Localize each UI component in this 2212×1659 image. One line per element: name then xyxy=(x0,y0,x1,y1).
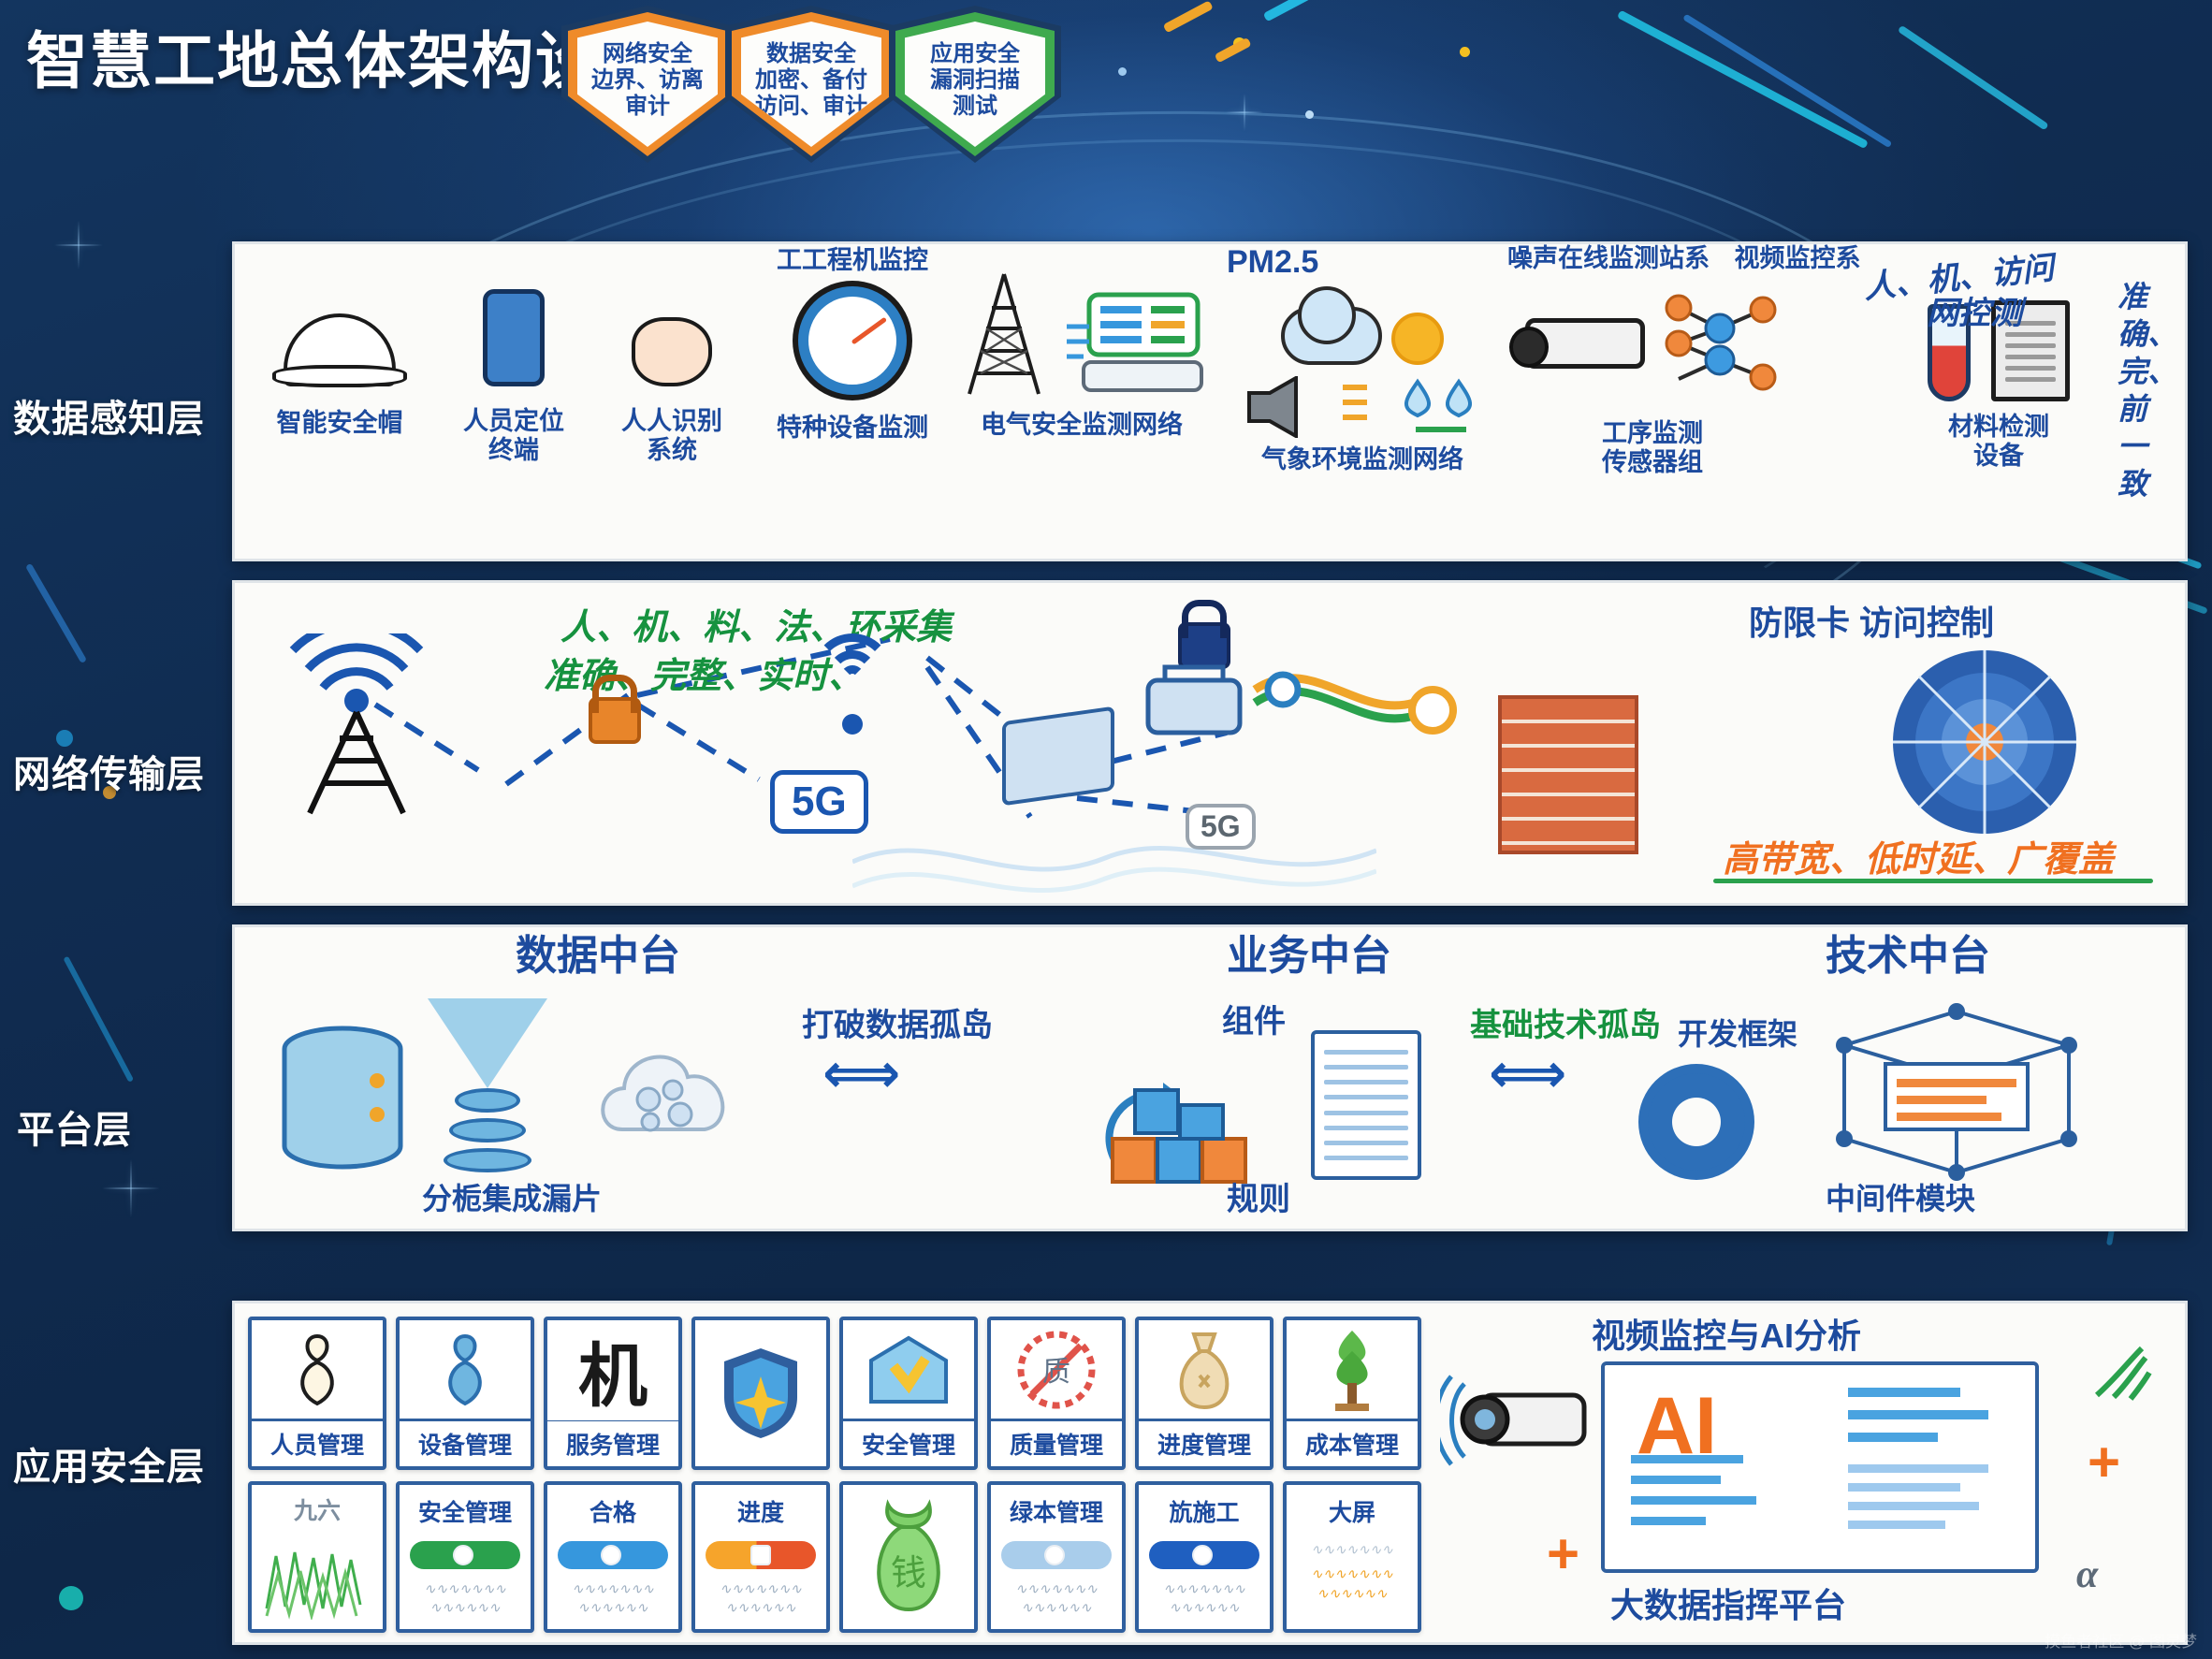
app-card-equipment-management[interactable]: 设备管理 xyxy=(396,1317,534,1470)
cloud-icon xyxy=(1281,307,1382,365)
app-card-construction[interactable]: 斻施工 ∿∿∿∿∿∿∿∿∿∿∿∿∿ xyxy=(1135,1481,1273,1633)
app-card-title: 九六 xyxy=(294,1485,341,1530)
lock-orange-icon xyxy=(589,697,641,744)
noise-bars-icon xyxy=(1341,379,1380,435)
shield-application-security: 应用安全 漏洞扫描 测试 xyxy=(889,6,1061,163)
app-card-title: 绿本管理 xyxy=(1010,1485,1103,1528)
wifi-icon xyxy=(796,628,909,708)
database-icon xyxy=(272,1025,413,1179)
perception-top-label: 工工程机监控 xyxy=(777,246,928,275)
app-card-service-management[interactable]: 机 服务管理 xyxy=(544,1317,682,1470)
watermark: 摸鱼者社区 @ 图灵梦 xyxy=(2045,1628,2197,1652)
platform-header-business-midend: 业务中台 xyxy=(1227,933,1391,981)
app-card-personnel-management[interactable]: 人员管理 xyxy=(248,1317,386,1470)
perception-top-label: PM2.5 xyxy=(1227,244,1318,281)
app-card-title: 安全管理 xyxy=(418,1485,512,1528)
app-card-title: 进度 xyxy=(737,1485,784,1528)
double-arrow-right-icon: ⟺ xyxy=(1489,1047,1566,1101)
platform-caption-dev-framework: 开发框架 xyxy=(1678,1017,1797,1052)
card-scribble-orange: ∿∿∿∿∿∿∿∿∿∿∿∿∿ xyxy=(1311,1565,1393,1604)
perception-item-label: 工序监测传感器组 xyxy=(1602,419,1703,477)
orange-underline xyxy=(1713,879,2153,883)
middleware-cube-icon xyxy=(1816,998,2097,1186)
app-card-title: 安全管理 xyxy=(862,1421,955,1466)
app-card-cost-management[interactable]: 成本管理 xyxy=(1283,1317,1421,1470)
phone-icon xyxy=(483,289,545,386)
ai-bottom-lines xyxy=(1631,1448,1781,1560)
sensor-network-icon xyxy=(1658,287,1780,400)
no-entry-icon: 质 xyxy=(1015,1329,1098,1411)
shield-star-icon xyxy=(720,1345,801,1442)
toggle-switch[interactable] xyxy=(706,1541,816,1569)
platform-caption-components: 组件 xyxy=(1222,1004,1286,1041)
card-scribble: ∿∿∿∿∿∿∿∿∿∿∿∿∿ xyxy=(720,1580,802,1619)
perception-item-weather-environment-network[interactable]: PM2.5 气象环境监测网络 xyxy=(1208,244,1517,474)
signal-waves-icon xyxy=(2088,1341,2153,1406)
ai-chart-lines xyxy=(1842,1378,2020,1562)
app-card-title: 质量管理 xyxy=(1010,1421,1103,1466)
card-scribble: ∿∿∿∿∿∿∿∿∿∿∿∿∿ xyxy=(424,1580,506,1619)
perception-item-special-equipment-monitoring[interactable]: 工工程机监控 特种设备监测 xyxy=(749,246,955,443)
perception-item-label: 气象环境监测网络 xyxy=(1261,445,1463,474)
ai-analysis-panel: 视频监控与AI分析 AI xyxy=(1433,1313,2172,1638)
green-waveform-icon xyxy=(261,1534,373,1620)
router-icon xyxy=(1142,660,1245,745)
ai-panel-header: 视频监控与AI分析 xyxy=(1592,1317,1861,1355)
shield-line: 应用安全 xyxy=(930,42,1020,67)
plus-icon-left: + xyxy=(1547,1526,1579,1582)
app-card-qualified[interactable]: 合格 ∿∿∿∿∿∿∿∿∿∿∿∿∿ xyxy=(544,1481,682,1633)
perception-item-process-monitoring-sensor-group[interactable]: 噪声在线监测站系 工序监测传感器组 xyxy=(1507,244,1797,477)
ai-screen[interactable]: AI xyxy=(1601,1361,2039,1573)
sun-icon xyxy=(1391,313,1444,365)
toggle-switch[interactable] xyxy=(1149,1541,1259,1569)
platform-header-technology-midend: 技术中台 xyxy=(1826,933,1990,981)
app-card-title: 合格 xyxy=(589,1485,636,1528)
shield-line: 审计 xyxy=(625,95,670,120)
machine-char-icon: 机 xyxy=(578,1320,648,1420)
perception-item-personnel-positioning-terminal[interactable]: 人员定位终端 xyxy=(439,269,589,465)
perception-item-face-recognition-system[interactable]: 人人识别系统 xyxy=(592,272,751,465)
envelope-check-icon xyxy=(866,1332,952,1407)
shield-inner: 应用安全 漏洞扫描 测试 xyxy=(905,22,1045,147)
components-cubes-icon xyxy=(1086,1070,1292,1196)
app-card-title: 斻施工 xyxy=(1169,1485,1239,1528)
app-card-title: 成本管理 xyxy=(1305,1421,1399,1466)
rules-list-icon xyxy=(1311,1030,1421,1180)
platform-caption-analysis-integration: 分栀集成漏片 xyxy=(422,1182,602,1216)
perception-item-label: 人员定位终端 xyxy=(463,407,564,465)
water-drops-icon xyxy=(1393,378,1483,436)
layer-panel-network: 人、机、料、法、环采集 准确、完整、实时、 5G 5G 防限卡 访问控制 xyxy=(232,580,2188,906)
card-scribble: ∿∿∿∿∿∿∿ xyxy=(1311,1541,1393,1560)
tower-icon xyxy=(953,270,1055,401)
card-scribble: ∿∿∿∿∿∿∿∿∿∿∿∿∿ xyxy=(572,1580,654,1619)
water-waves-decor xyxy=(852,806,1376,909)
app-card-green-book-management[interactable]: 绿本管理 ∿∿∿∿∿∿∿∿∿∿∿∿∿ xyxy=(987,1481,1126,1633)
perception-item-label: 人人识别系统 xyxy=(621,407,722,465)
alpha-glyph: α xyxy=(2076,1552,2098,1597)
platform-header-data-midend: 数据中台 xyxy=(516,933,680,981)
person-outline-icon xyxy=(289,1331,345,1409)
app-card-progress-management[interactable]: 进度管理 xyxy=(1135,1317,1273,1470)
layer-panel-application: 人员管理 设备管理 机 服务管理 xyxy=(232,1301,2188,1645)
platform-caption-rules: 规则 xyxy=(1227,1182,1290,1218)
shield-line: 数据安全 xyxy=(766,42,856,67)
card-scribble: ∿∿∿∿∿∿∿∿∿∿∿∿∿ xyxy=(1015,1580,1098,1619)
speaker-icon xyxy=(1242,376,1328,438)
platform-arrow-label-base-tech-silo: 基础技术孤岛 xyxy=(1470,1008,1661,1044)
app-card-progress[interactable]: 进度 ∿∿∿∿∿∿∿∿∿∿∿∿∿ xyxy=(691,1481,830,1633)
app-card-title: 大屏 xyxy=(1329,1485,1375,1528)
camera-icon xyxy=(1525,318,1645,369)
electrical-panel-icon xyxy=(1061,289,1211,401)
application-row-2: 九六 安全管理 ∿∿∿∿∿∿∿∿∿∿∿∿∿ 合格 ∿∿∿∿∿∿∿∿∿∿∿∿∿ 进… xyxy=(248,1481,1421,1633)
layer-panel-perception: 智能安全帽 人员定位终端 人人识别系统 工工程机监控 特种设备监测 xyxy=(232,241,2188,561)
platform-caption-middleware-module: 中间件模块 xyxy=(1826,1182,1975,1216)
toggle-switch[interactable] xyxy=(410,1541,520,1569)
app-card-big-screen[interactable]: 大屏 ∿∿∿∿∿∿∿ ∿∿∿∿∿∿∿∿∿∿∿∿∿ xyxy=(1283,1481,1421,1633)
app-card-title: 设备管理 xyxy=(418,1421,512,1466)
layer-panel-platform: 数据中台 业务中台 技术中台 分栀集成漏片 打破数据孤岛 ⟺ xyxy=(232,924,2188,1231)
perception-item-electrical-safety-network[interactable]: 电气安全监测网络 xyxy=(946,261,1217,440)
app-card-quality-management[interactable]: 质 质量管理 xyxy=(987,1317,1126,1470)
perception-handwritten-wang-kong-ce: 网控测 xyxy=(1927,287,2022,333)
firewall-icon xyxy=(1498,695,1638,854)
perception-item-label: 材料检测设备 xyxy=(1948,413,2049,471)
shield-line: 加密、备付 xyxy=(755,68,867,94)
radar-icon xyxy=(1882,639,2088,845)
svg-text:钱: 钱 xyxy=(891,1554,926,1594)
ai-camera-icon xyxy=(1440,1371,1599,1474)
app-card-jiu-liu[interactable]: 九六 xyxy=(248,1481,386,1633)
app-card-money-bag[interactable]: 钱 xyxy=(839,1481,978,1633)
gear-icon xyxy=(1648,1073,1745,1171)
application-row-1: 人员管理 设备管理 机 服务管理 xyxy=(248,1317,1421,1470)
shield-network-security: 网络安全 边界、访离 审计 xyxy=(561,6,734,163)
shield-line: 边界、访离 xyxy=(591,68,704,94)
shield-line: 网络安全 xyxy=(603,42,692,67)
cable-connector-icon xyxy=(1245,658,1489,765)
perception-handwritten-zhunque: 准确、完、前一致 xyxy=(2117,278,2166,502)
perception-item-label: 电气安全监测网络 xyxy=(981,411,1183,440)
network-access-control-label: 防限卡 访问控制 xyxy=(1749,604,1994,642)
app-card-title: 人员管理 xyxy=(270,1421,364,1466)
perception-item-smart-helmet[interactable]: 智能安全帽 xyxy=(255,274,424,438)
cell-tower-icon xyxy=(272,633,441,825)
app-card-title: 服务管理 xyxy=(566,1421,660,1466)
layer-label-platform: 平台层 xyxy=(17,1099,132,1154)
shield-line: 漏洞扫描 xyxy=(930,68,1020,94)
network-bottom-orange-label: 高带宽、低时延、广覆盖 xyxy=(1723,830,2114,881)
data-cloud-icon xyxy=(590,1032,740,1168)
helmet-icon xyxy=(284,313,396,386)
shield-inner: 数据安全 加密、备付 访问、审计 xyxy=(741,22,881,147)
gauge-icon xyxy=(798,286,907,395)
perception-item-label: 特种设备监测 xyxy=(777,414,928,443)
platform-arrow-label-break-data-silo: 打破数据孤岛 xyxy=(802,1008,993,1044)
tree-icon xyxy=(1317,1327,1388,1413)
toggle-switch[interactable] xyxy=(1001,1541,1112,1569)
app-card-safety-management-2[interactable]: 安全管理 ∿∿∿∿∿∿∿∿∿∿∿∿∿ xyxy=(396,1481,534,1633)
person-blue-icon xyxy=(437,1331,493,1409)
toggle-switch[interactable] xyxy=(558,1541,668,1569)
money-bag-green-icon: 钱 xyxy=(864,1499,953,1615)
funnel-icon xyxy=(428,998,547,1172)
app-card-title: 进度管理 xyxy=(1157,1421,1251,1466)
double-arrow-left-icon: ⟺ xyxy=(822,1047,900,1101)
shield-line: 测试 xyxy=(953,95,997,120)
shield-line: 访问、审计 xyxy=(755,95,867,120)
perception-item-label: 智能安全帽 xyxy=(277,409,403,438)
plus-icon-right: + xyxy=(2088,1434,2120,1491)
shield-inner: 网络安全 边界、访离 审计 xyxy=(577,22,718,147)
face-icon xyxy=(632,317,712,386)
layer-label-application: 应用安全层 xyxy=(13,1436,205,1491)
app-card-shield-star[interactable] xyxy=(691,1317,830,1470)
card-scribble: ∿∿∿∿∿∿∿∿∿∿∿∿∿ xyxy=(1163,1580,1245,1619)
svg-text:质: 质 xyxy=(1042,1357,1070,1388)
money-bag-icon xyxy=(1170,1329,1239,1411)
server-icon xyxy=(1002,706,1114,807)
app-card-safety-management[interactable]: 安全管理 xyxy=(839,1317,978,1470)
perception-top-label: 视频监控系 xyxy=(1735,244,1861,273)
ai-panel-footer: 大数据指挥平台 xyxy=(1610,1586,1846,1624)
layer-label-perception: 数据感知层 xyxy=(13,388,205,443)
layer-label-network: 网络传输层 xyxy=(13,744,205,798)
shield-data-security: 数据安全 加密、备付 访问、审计 xyxy=(725,6,897,163)
